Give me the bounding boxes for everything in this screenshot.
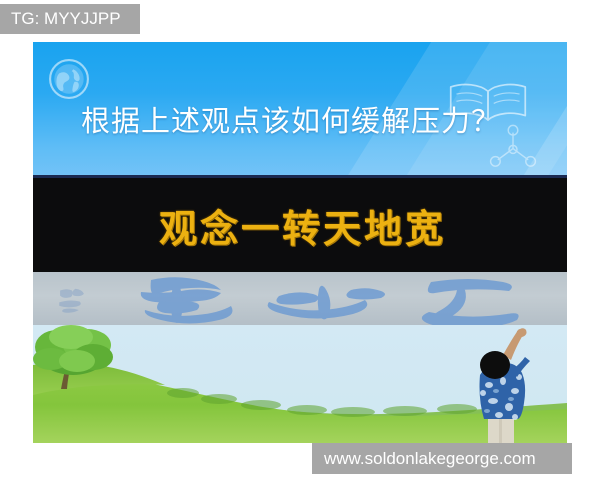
question-text: 根据上述观点该如何缓解压力？ (33, 42, 567, 178)
watermark-top-left: TG: MYYJJPP (0, 4, 140, 34)
watermark-bottom-right: www.soldonlakegeorge.com (312, 443, 572, 474)
slogan-band-panel: 观念一转天地宽 (33, 178, 567, 272)
slide-image: 根据上述观点该如何缓解压力？ 观念一转天地宽 (33, 42, 567, 443)
calligraphy-seal-icon (55, 282, 89, 316)
slogan-text: 观念一转天地宽 (33, 178, 567, 272)
landscape-artwork (33, 325, 567, 443)
calligraphy-artwork (33, 272, 567, 325)
calligraphy-band-panel (33, 272, 567, 325)
screenshot-root: 根据上述观点该如何缓解压力？ 观念一转天地宽 (0, 0, 600, 480)
landscape-scene-panel (33, 325, 567, 443)
question-header-panel: 根据上述观点该如何缓解压力？ (33, 42, 567, 178)
